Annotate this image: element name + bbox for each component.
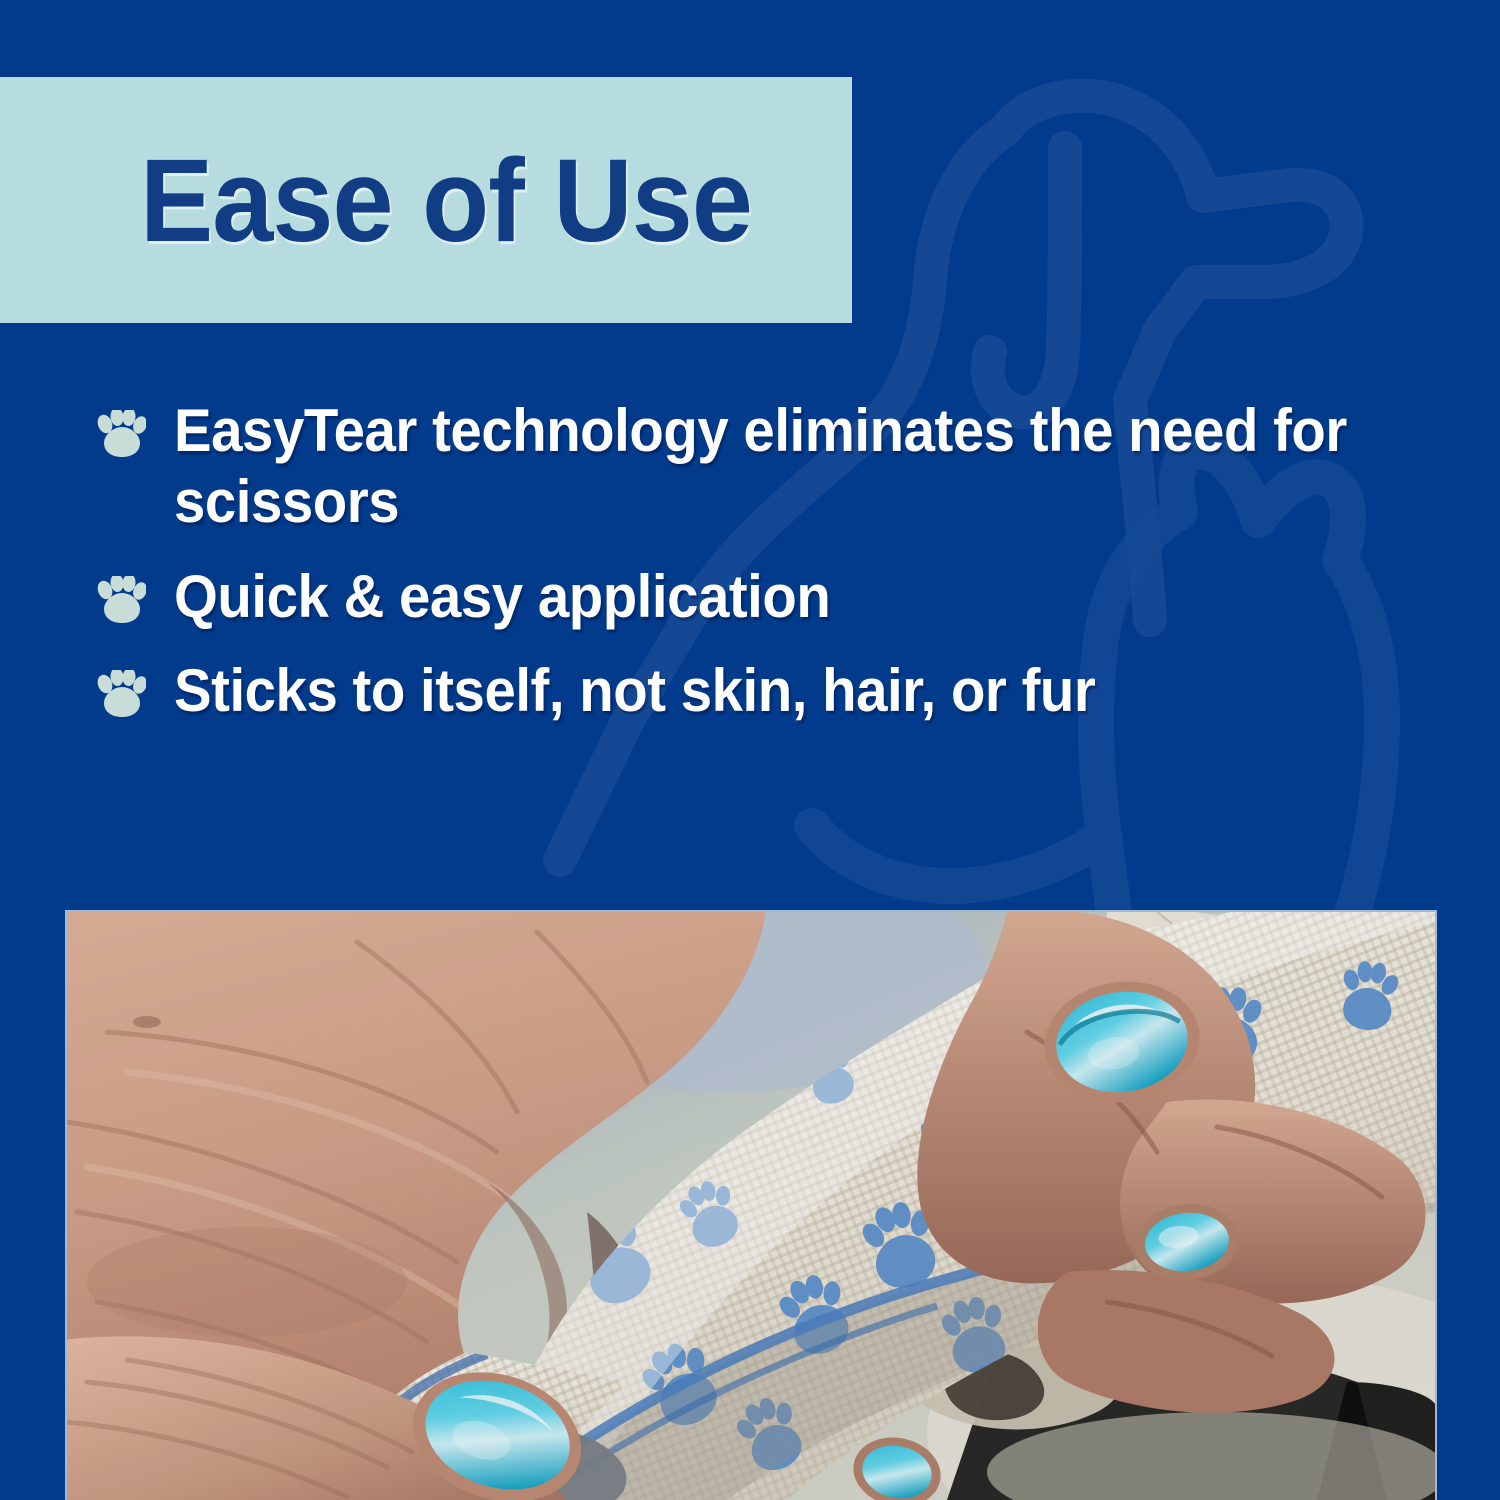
feature-bullet-list: EasyTear technology eliminates the need … (96, 396, 1446, 751)
product-photo (67, 912, 1435, 1500)
paw-print-icon (96, 410, 146, 458)
paw-print-icon (96, 670, 146, 718)
bullet-item: Sticks to itself, not skin, hair, or fur (96, 656, 1446, 727)
bullet-label: Sticks to itself, not skin, hair, or fur (174, 656, 1095, 727)
page-title: Ease of Use (140, 142, 752, 260)
bullet-item: EasyTear technology eliminates the need … (96, 396, 1446, 538)
bullet-label: Quick & easy application (174, 562, 830, 633)
bullet-item: Quick & easy application (96, 562, 1446, 633)
paw-print-icon (96, 576, 146, 624)
bullet-label: EasyTear technology eliminates the need … (174, 396, 1370, 538)
